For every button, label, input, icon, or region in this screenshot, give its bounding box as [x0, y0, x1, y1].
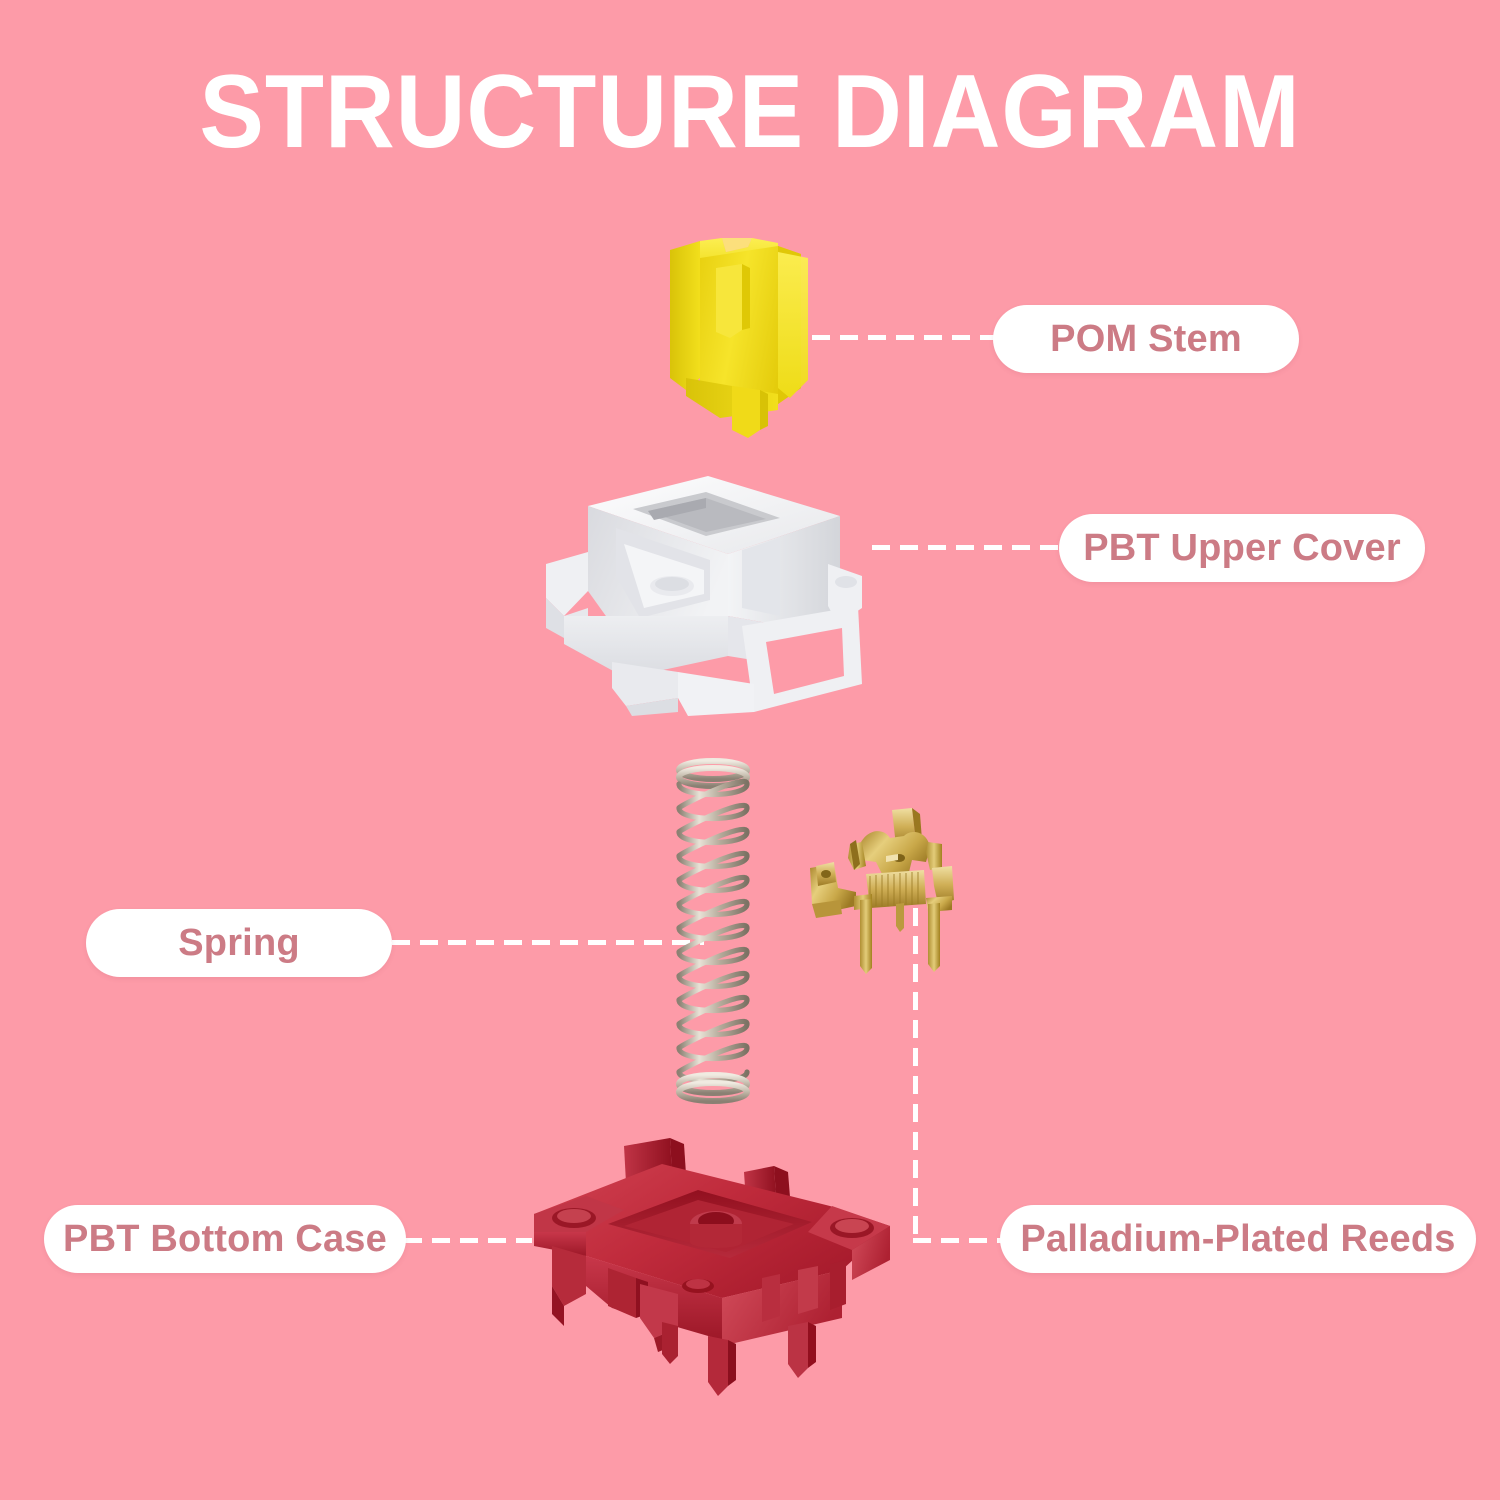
part-pbt-upper-cover	[528, 466, 878, 716]
label-pbt-bottom-case-text: PBT Bottom Case	[63, 1218, 387, 1261]
leader-line-spring	[392, 940, 704, 945]
label-pbt-bottom-case[interactable]: PBT Bottom Case	[44, 1205, 406, 1273]
leader-line-pom-stem	[812, 335, 998, 340]
part-pom-stem	[660, 238, 830, 438]
label-pom-stem[interactable]: POM Stem	[993, 305, 1299, 373]
label-spring-text: Spring	[178, 922, 300, 965]
label-spring[interactable]: Spring	[86, 909, 392, 977]
label-palladium-plated-reeds-text: Palladium-Plated Reeds	[1020, 1218, 1455, 1261]
page-title: STRUCTURE DIAGRAM	[53, 58, 1448, 167]
label-pbt-upper-cover[interactable]: PBT Upper Cover	[1059, 514, 1425, 582]
label-pbt-upper-cover-text: PBT Upper Cover	[1083, 527, 1401, 570]
part-pbt-bottom-case	[512, 1128, 912, 1398]
leader-line-reeds-horizontal	[913, 1238, 1005, 1243]
leader-line-pbt-upper-cover	[872, 545, 1064, 550]
diagram-canvas: STRUCTURE DIAGRAM	[0, 0, 1500, 1500]
part-palladium-plated-reeds	[800, 808, 975, 988]
label-palladium-plated-reeds[interactable]: Palladium-Plated Reeds	[1000, 1205, 1476, 1273]
label-pom-stem-text: POM Stem	[1050, 318, 1242, 361]
part-spring	[670, 758, 756, 1106]
